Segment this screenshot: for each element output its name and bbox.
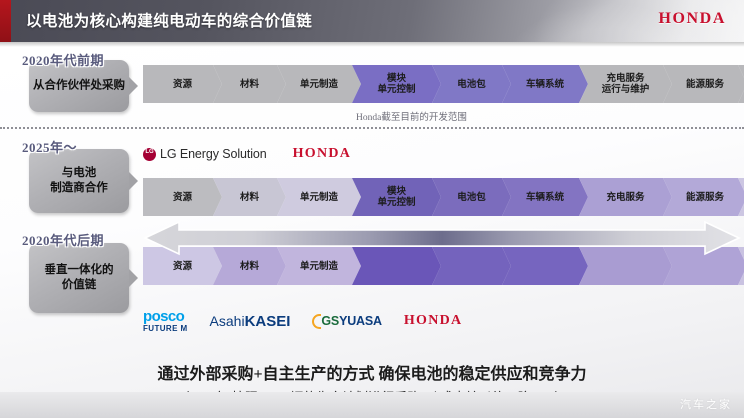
chain-segment-label: 材料	[240, 192, 259, 203]
chain-segment-label: 单元制造	[300, 261, 338, 272]
watermark-strip	[0, 392, 744, 418]
chain-segment-label: 资源	[173, 192, 192, 203]
chain-segment: 电池包	[432, 65, 511, 103]
chain-segment-label: 电池包	[457, 192, 486, 203]
gs-yuasa-logo: GS YUASA	[312, 314, 381, 329]
page-title: 以电池为核心构建纯电动车的综合价值链	[26, 9, 312, 31]
section-divider-dotted	[0, 127, 744, 129]
chain-segment: 单元制造	[277, 178, 361, 216]
chain-segment-label: 资源	[173, 79, 192, 90]
chain-segment-label: 充电服务	[606, 192, 644, 203]
posco-future-m-sub: FUTURE M	[143, 325, 188, 333]
lg-circle-icon	[143, 148, 156, 161]
chain-segment-label: 充电服务 运行与维护	[602, 73, 650, 95]
honda-logo-row2: HONDA	[293, 146, 352, 162]
chain-segment: 充电服务	[579, 178, 672, 216]
stage-label-3: 垂直一体化的 价值链	[29, 263, 129, 293]
stage-label-2: 与电池 制造商合作	[29, 166, 129, 196]
chain-segment: 资源	[143, 178, 222, 216]
chain-segment: 模块 单元控制	[352, 65, 441, 103]
stage-pointer-3	[129, 269, 138, 287]
chain-segment-label: 单元制造	[300, 79, 338, 90]
value-chain-row-2020-early: 资源材料单元制造模块 单元控制电池包车辆系统充电服务 运行与维护能源服务回收再生	[143, 65, 741, 103]
chain-segment: 电池包	[432, 178, 511, 216]
chain-segment-label: 车辆系统	[526, 192, 564, 203]
chain-segment-label: 模块 单元控制	[377, 73, 415, 95]
chain-segment: 充电服务 运行与维护	[579, 65, 672, 103]
development-scope-note: Honda截至目前的开发范围	[356, 109, 467, 123]
value-chain-row-2025: 资源材料单元制造模块 单元控制电池包车辆系统充电服务能源服务回收再生	[143, 178, 741, 216]
chain-segment-label: 能源服务	[686, 192, 724, 203]
partner-logos-2025: LG Energy Solution HONDA	[143, 146, 351, 162]
vertical-integration-span-arrow	[143, 220, 741, 256]
chain-segment: 单元制造	[277, 65, 361, 103]
slide-body: 2020年代前期 从合作伙伴处采购 资源材料单元制造模块 单元控制电池包车辆系统…	[0, 47, 744, 418]
posco-future-m-logo: posco FUTURE M	[143, 309, 188, 333]
chain-segment-label: 模块 单元控制	[377, 186, 415, 208]
kasei-word: KASEI	[245, 313, 291, 330]
stage-pointer-2	[129, 172, 138, 190]
header-red-accent-bar	[0, 0, 11, 42]
asahi-word: Asahi	[210, 313, 245, 329]
chain-segment: 能源服务	[663, 65, 744, 103]
chain-segment-label: 资源	[173, 261, 192, 272]
conclusion-line-1: 通过外部采购+自主生产的方式 确保电池的稳定供应和竞争力	[0, 360, 744, 384]
chain-segment: 车辆系统	[502, 65, 588, 103]
chain-segment-label: 电池包	[457, 79, 486, 90]
chain-segment: 模块 单元控制	[352, 178, 441, 216]
partner-logos-2020-late: posco FUTURE M AsahiKASEI GS YUASA HONDA	[143, 309, 462, 333]
lg-energy-solution-text: LG Energy Solution	[160, 147, 267, 161]
era-label-3: 2020年代后期	[22, 230, 104, 249]
stage-label-1: 从合作伙伴处采购	[29, 79, 129, 94]
gs-word: GS	[321, 314, 339, 328]
chain-segment-label: 能源服务	[686, 79, 724, 90]
chain-segment: 车辆系统	[502, 178, 588, 216]
chain-segment-label: 材料	[240, 79, 259, 90]
chain-segment: 能源服务	[663, 178, 744, 216]
chain-segment-label: 单元制造	[300, 192, 338, 203]
page-header: 以电池为核心构建纯电动车的综合价值链 HONDA	[0, 0, 744, 42]
posco-wordmark: posco	[143, 309, 188, 324]
chain-segment: 资源	[143, 65, 222, 103]
lg-energy-solution-logo: LG Energy Solution	[143, 147, 267, 161]
gs-yuasa-arc-icon	[312, 314, 321, 329]
stage-box-2: 与电池 制造商合作	[29, 149, 129, 213]
yuasa-word: YUASA	[339, 314, 382, 328]
honda-wordmark-logo: HONDA	[658, 10, 726, 28]
honda-logo-row3: HONDA	[404, 313, 463, 329]
asahi-kasei-logo: AsahiKASEI	[210, 313, 291, 330]
stage-pointer-1	[129, 77, 138, 95]
stage-box-3: 垂直一体化的 价值链	[29, 243, 129, 313]
era-label-1: 2020年代前期	[22, 50, 104, 69]
era-label-2: 2025年～	[22, 137, 77, 156]
site-watermark: 汽车之家	[680, 396, 732, 412]
chain-segment-label: 车辆系统	[526, 79, 564, 90]
chain-segment-label: 材料	[240, 261, 259, 272]
chain-segment: 材料	[213, 178, 286, 216]
chain-segment: 材料	[213, 65, 286, 103]
